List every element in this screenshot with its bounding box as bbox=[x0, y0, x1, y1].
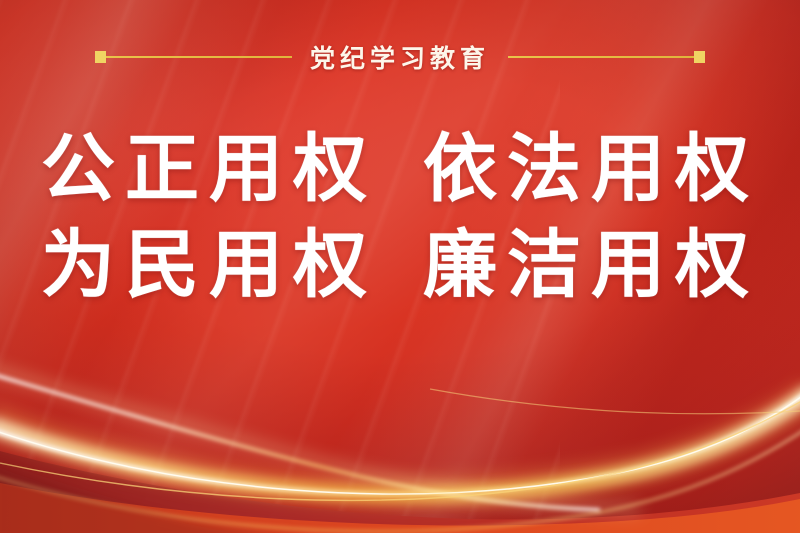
gold-rule-line-right bbox=[508, 56, 694, 58]
slogan-phrase-yifa-yongquan: 依法用权 bbox=[423, 132, 759, 206]
gold-ribbon-decoration bbox=[0, 333, 800, 533]
slogan-line-1: 公正用权 依法用权 bbox=[41, 132, 759, 206]
gold-square-cap-right-icon bbox=[694, 51, 705, 63]
page-title: 党纪学习教育 bbox=[292, 39, 508, 75]
slogan-line-2: 为民用权 廉洁用权 bbox=[41, 228, 759, 302]
poster-root: 党纪学习教育 公正用权 依法用权 为民用权 廉洁用权 bbox=[0, 0, 800, 533]
slogan-phrase-gongzheng-yongquan: 公正用权 bbox=[41, 132, 377, 206]
slogan-phrase-lianjie-yongquan: 廉洁用权 bbox=[423, 228, 759, 302]
ribbon-filament-far-right bbox=[430, 389, 800, 414]
gold-square-cap-left-icon bbox=[95, 51, 106, 63]
gold-rule-line-left bbox=[106, 56, 292, 58]
gold-ribbon-svg bbox=[0, 333, 800, 533]
slogan-block: 公正用权 依法用权 为民用权 廉洁用权 bbox=[0, 132, 800, 302]
header-band: 党纪学习教育 bbox=[0, 40, 800, 74]
slogan-phrase-weimin-yongquan: 为民用权 bbox=[41, 228, 377, 302]
header-rule-left bbox=[95, 51, 292, 63]
header-rule-right bbox=[508, 51, 705, 63]
